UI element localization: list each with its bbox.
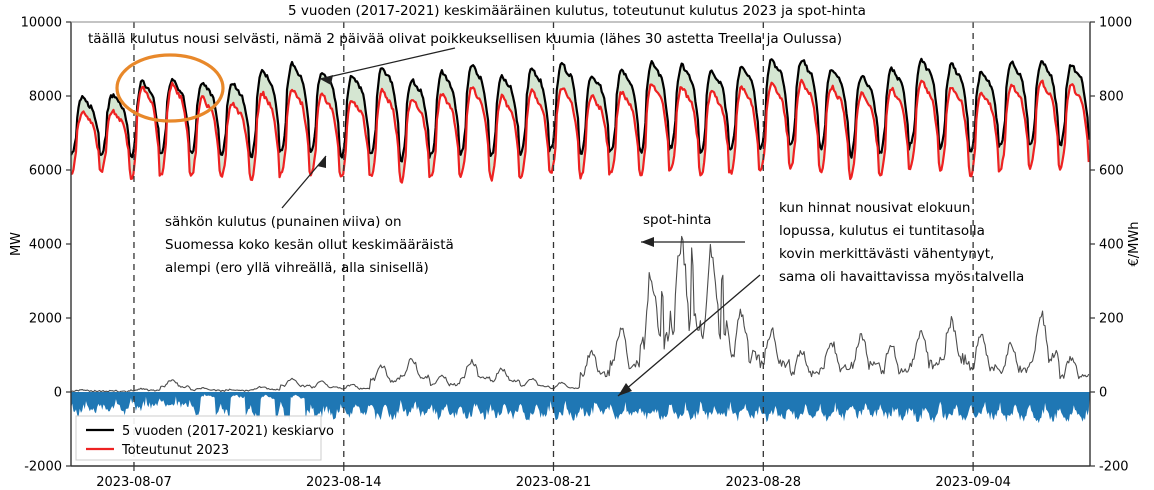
annotation-heat-note-text: täällä kulutus nousi selvästi, nämä 2 pä…: [88, 31, 842, 47]
y2-tick-label: 0: [1099, 386, 1107, 401]
y-tick-label: 10000: [21, 16, 62, 31]
annotation-consumption-line-2: Suomessa koko kesän ollut keskimääräistä: [165, 237, 454, 253]
y2-tick-label: -200: [1099, 460, 1129, 475]
y-tick-label: 0: [54, 386, 62, 401]
x-axis-ticks: 2023-08-072023-08-142023-08-212023-08-28…: [96, 466, 1011, 490]
y2-tick-label: 800: [1099, 90, 1124, 105]
x-tick-label: 2023-08-14: [306, 475, 382, 490]
annotation-consumption-line-3: alempi (ero yllä vihreällä, alla sinisel…: [165, 260, 429, 276]
y-axis-left-label: MW: [9, 232, 24, 256]
x-tick-label: 2023-08-21: [516, 475, 592, 490]
chart-legend[interactable]: 5 vuoden (2017-2021) keskiarvo Toteutunu…: [76, 416, 334, 460]
y-tick-label: 2000: [29, 312, 62, 327]
y2-tick-label: 400: [1099, 238, 1124, 253]
y-axis-right-label: €/MWh: [1127, 222, 1142, 267]
annotation-price-line-2: lopussa, kulutus ei tuntitasolla: [779, 223, 985, 239]
chart-root: 5 vuoden (2017-2021) keskimääräinen kulu…: [0, 0, 1154, 490]
chart-title: 5 vuoden (2017-2021) keskimääräinen kulu…: [288, 3, 866, 19]
annotation-consumption-line-1: sähkön kulutus (punainen viiva) on: [165, 214, 402, 230]
annotation-price-line-3: kovin merkittävästi vähentynyt,: [779, 246, 994, 262]
annotation-price-line-1: kun hinnat nousivat elokuun: [779, 200, 970, 216]
y2-tick-label: 1000: [1099, 16, 1132, 31]
annotation-price-line-4: sama oli havaittavissa myös talvella: [779, 269, 1024, 285]
y2-tick-label: 200: [1099, 312, 1124, 327]
y-axis-right-ticks: -20002004006008001000: [1090, 16, 1132, 475]
chart-canvas: 5 vuoden (2017-2021) keskimääräinen kulu…: [0, 0, 1154, 490]
y2-tick-label: 600: [1099, 164, 1124, 179]
y-tick-label: 4000: [29, 238, 62, 253]
x-tick-label: 2023-09-04: [935, 475, 1011, 490]
y-tick-label: 6000: [29, 164, 62, 179]
y-tick-label: -2000: [24, 460, 62, 475]
x-tick-label: 2023-08-07: [96, 475, 172, 490]
y-axis-left-ticks: -20000200040006000800010000: [21, 16, 71, 475]
y-tick-label: 8000: [29, 90, 62, 105]
legend-label-average: 5 vuoden (2017-2021) keskiarvo: [122, 424, 334, 439]
annotation-spot-label: spot-hinta: [643, 212, 711, 228]
legend-label-actual: Toteutunut 2023: [121, 443, 229, 458]
x-tick-label: 2023-08-28: [726, 475, 802, 490]
